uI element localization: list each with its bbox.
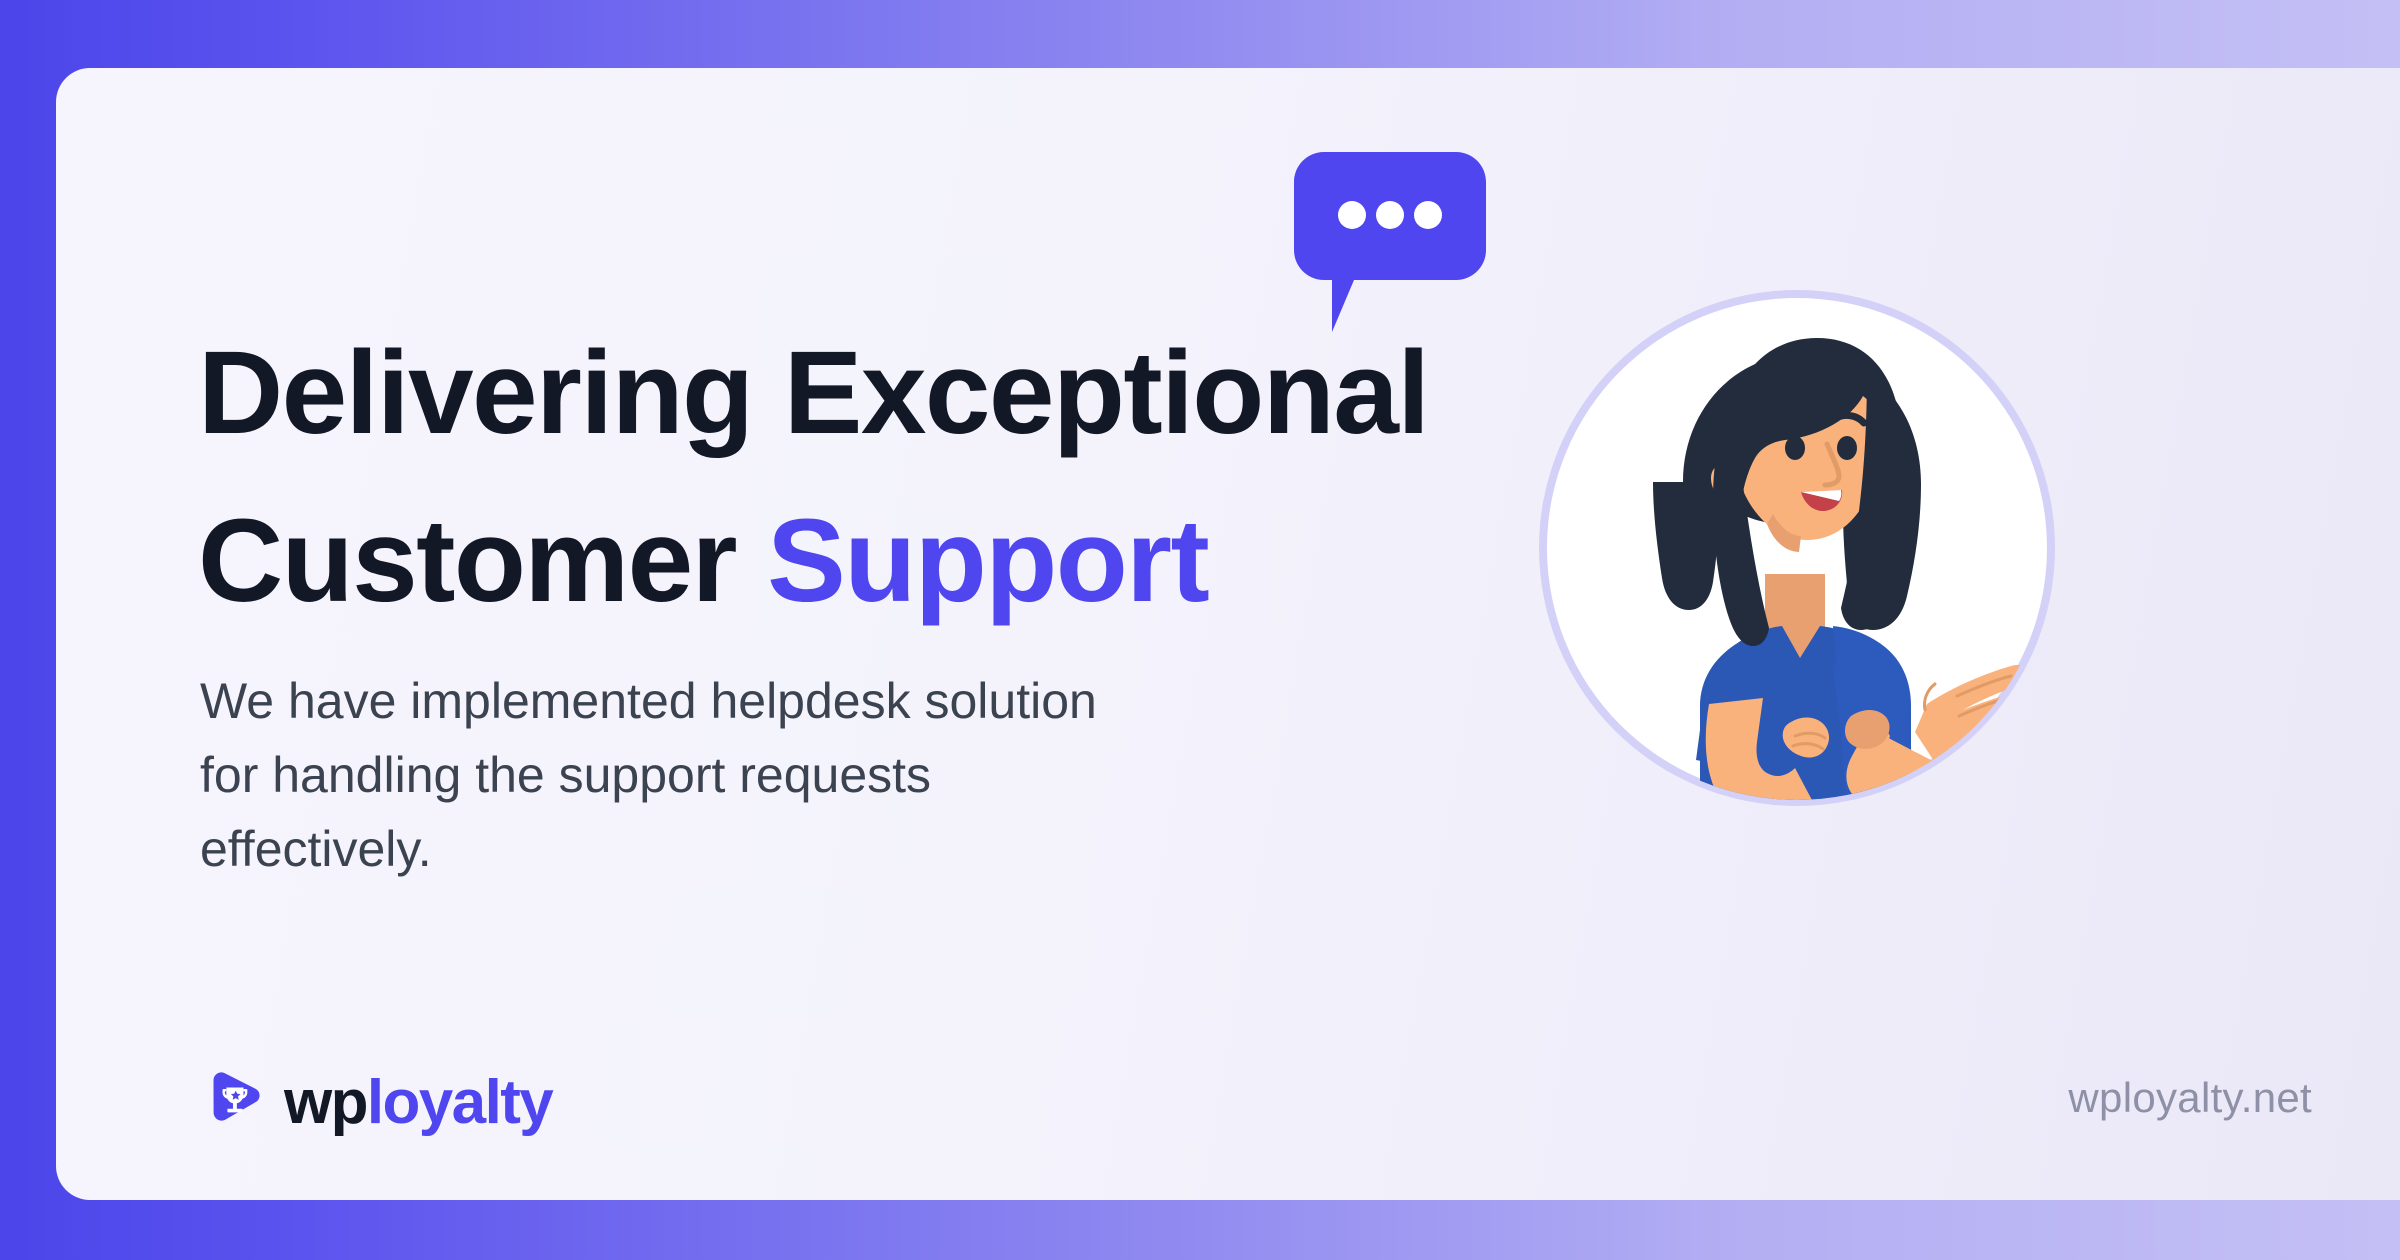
trophy-play-icon (200, 1068, 270, 1138)
banner-card: Delivering Exceptional Customer Support … (56, 68, 2400, 1200)
subtitle-text: We have implemented helpdesk solution fo… (200, 664, 1100, 886)
headline-line-2-prefix: Customer (198, 495, 767, 627)
banner-stage: Delivering Exceptional Customer Support … (0, 0, 2400, 1260)
chat-bubble-dots-icon (1294, 152, 1486, 332)
logo-word-loyalty: loyalty (367, 1068, 552, 1137)
logo-word-wp: wp (284, 1068, 367, 1137)
page-title: Delivering Exceptional Customer Support (198, 310, 1428, 645)
headline-line-1: Delivering Exceptional (198, 327, 1428, 459)
logo-wordmark: wployalty (284, 1072, 552, 1134)
headline-accent-word: Support (767, 495, 1208, 627)
logo[interactable]: wployalty (200, 1068, 552, 1138)
woman-support-agent-illustration (1533, 284, 2061, 812)
footer-url: wployalty.net (2068, 1074, 2312, 1122)
